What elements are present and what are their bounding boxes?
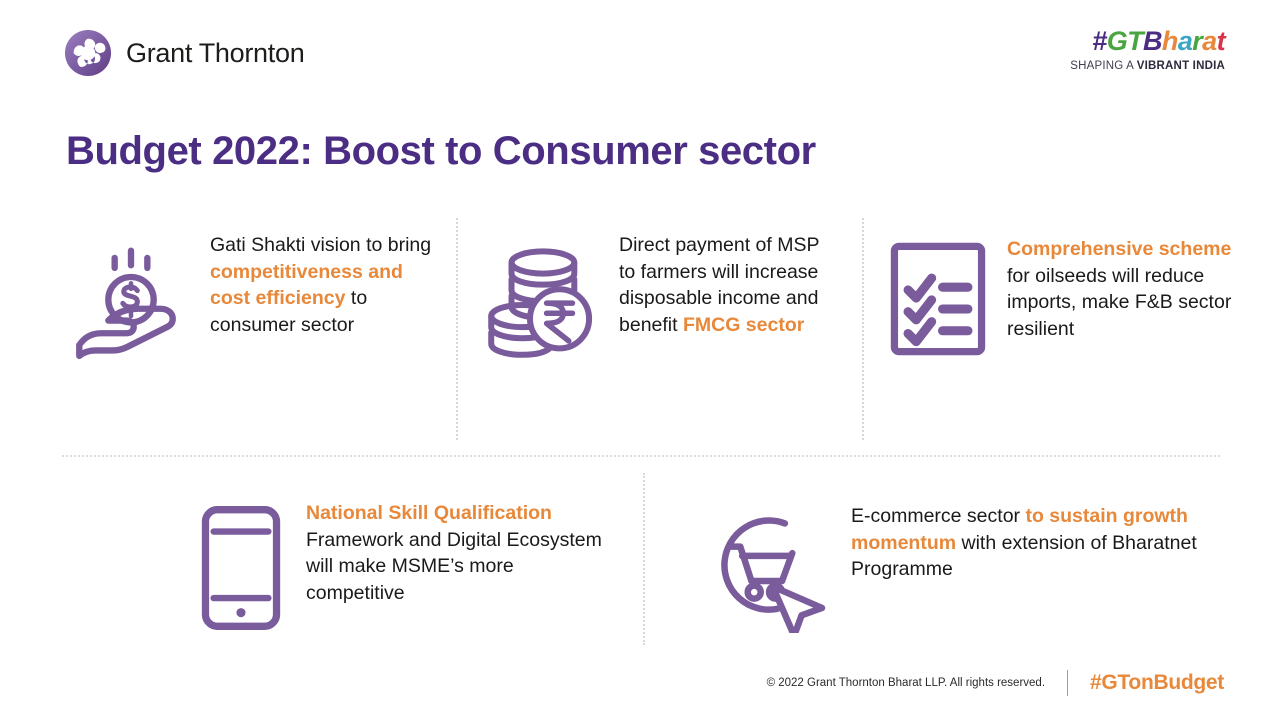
gtbharat-letter: G <box>1107 26 1127 56</box>
gtbharat-tagline-bold: VIBRANT INDIA <box>1137 60 1225 72</box>
highlighted-text: competitiveness and cost efficiency <box>210 261 403 310</box>
card-oilseeds-scheme-text: Comprehensive scheme for oilseeds will r… <box>1007 236 1232 343</box>
slide-footer: © 2022 Grant Thornton Bharat LLP. All ri… <box>0 660 1280 720</box>
rupee-coin-stack-icon <box>482 232 607 372</box>
body-text: for oilseeds will reduce imports, make F… <box>1007 265 1231 340</box>
card-gati-shakti-text: Gati Shakti vision to bring competitiven… <box>210 232 432 339</box>
brand-logo: Grant Thornton <box>64 29 304 77</box>
body-text: E-commerce sector <box>851 505 1025 527</box>
divider-vertical-3 <box>643 473 645 645</box>
body-text: Framework and Digital Ecosystem will mak… <box>306 529 602 604</box>
card-msp-direct-payment: Direct payment of MSP to farmers will in… <box>482 232 852 372</box>
gtbharat-tagline-light: SHAPING A <box>1070 60 1137 72</box>
shopping-cart-cursor-icon <box>705 503 845 638</box>
gtbharat-letter: a <box>1178 26 1192 56</box>
divider-vertical-2 <box>862 218 864 440</box>
body-text: Gati Shakti vision to bring <box>210 234 431 256</box>
gtbharat-campaign-logo: #GTBharat SHAPING A VIBRANT INDIA <box>1070 28 1225 72</box>
hand-holding-dollar-coin-icon <box>72 232 198 370</box>
copyright-text: © 2022 Grant Thornton Bharat LLP. All ri… <box>767 677 1045 689</box>
highlighted-text: FMCG sector <box>683 314 804 336</box>
card-gati-shakti: Gati Shakti vision to bring competitiven… <box>72 232 442 370</box>
highlighted-text: National Skill Qualification <box>306 502 552 524</box>
mobile-phone-icon <box>200 500 298 637</box>
card-oilseeds-scheme: Comprehensive scheme for oilseeds will r… <box>888 236 1233 363</box>
gtbharat-letter: h <box>1162 26 1178 56</box>
card-ecommerce-bharatnet-text: E-commerce sector to sustain growth mome… <box>851 503 1211 583</box>
gtbharat-letter: B <box>1143 26 1162 56</box>
card-national-skill-qualification: National Skill Qualification Framework a… <box>200 500 620 637</box>
gtbharat-letter: T <box>1127 26 1143 56</box>
grant-thornton-swirl-logo-icon <box>64 29 112 77</box>
gtbharat-letter: a <box>1202 26 1216 56</box>
divider-vertical-1 <box>456 218 458 440</box>
gtbharat-tagline: SHAPING A VIBRANT INDIA <box>1070 60 1225 72</box>
highlighted-text: Comprehensive scheme <box>1007 238 1231 260</box>
gtbharat-letter: t <box>1217 26 1225 56</box>
gtbharat-letter: r <box>1192 26 1202 56</box>
slide-header: Grant Thornton #GTBharat SHAPING A VIBRA… <box>0 0 1280 100</box>
footer-separator <box>1067 670 1068 696</box>
card-national-skill-qualification-text: National Skill Qualification Framework a… <box>306 500 606 607</box>
brand-wordmark: Grant Thornton <box>126 38 304 69</box>
page-title: Budget 2022: Boost to Consumer sector <box>66 129 816 174</box>
card-ecommerce-bharatnet: E-commerce sector to sustain growth mome… <box>705 503 1225 638</box>
card-msp-direct-payment-text: Direct payment of MSP to farmers will in… <box>619 232 839 339</box>
footer-hashtag: #GTonBudget <box>1090 671 1224 695</box>
checklist-clipboard-icon <box>888 236 993 363</box>
infographic-slide: Grant Thornton #GTBharat SHAPING A VIBRA… <box>0 0 1280 720</box>
gtbharat-letter: # <box>1092 26 1106 56</box>
gtbharat-wordmark: #GTBharat <box>1070 28 1225 55</box>
divider-horizontal <box>62 455 1220 457</box>
